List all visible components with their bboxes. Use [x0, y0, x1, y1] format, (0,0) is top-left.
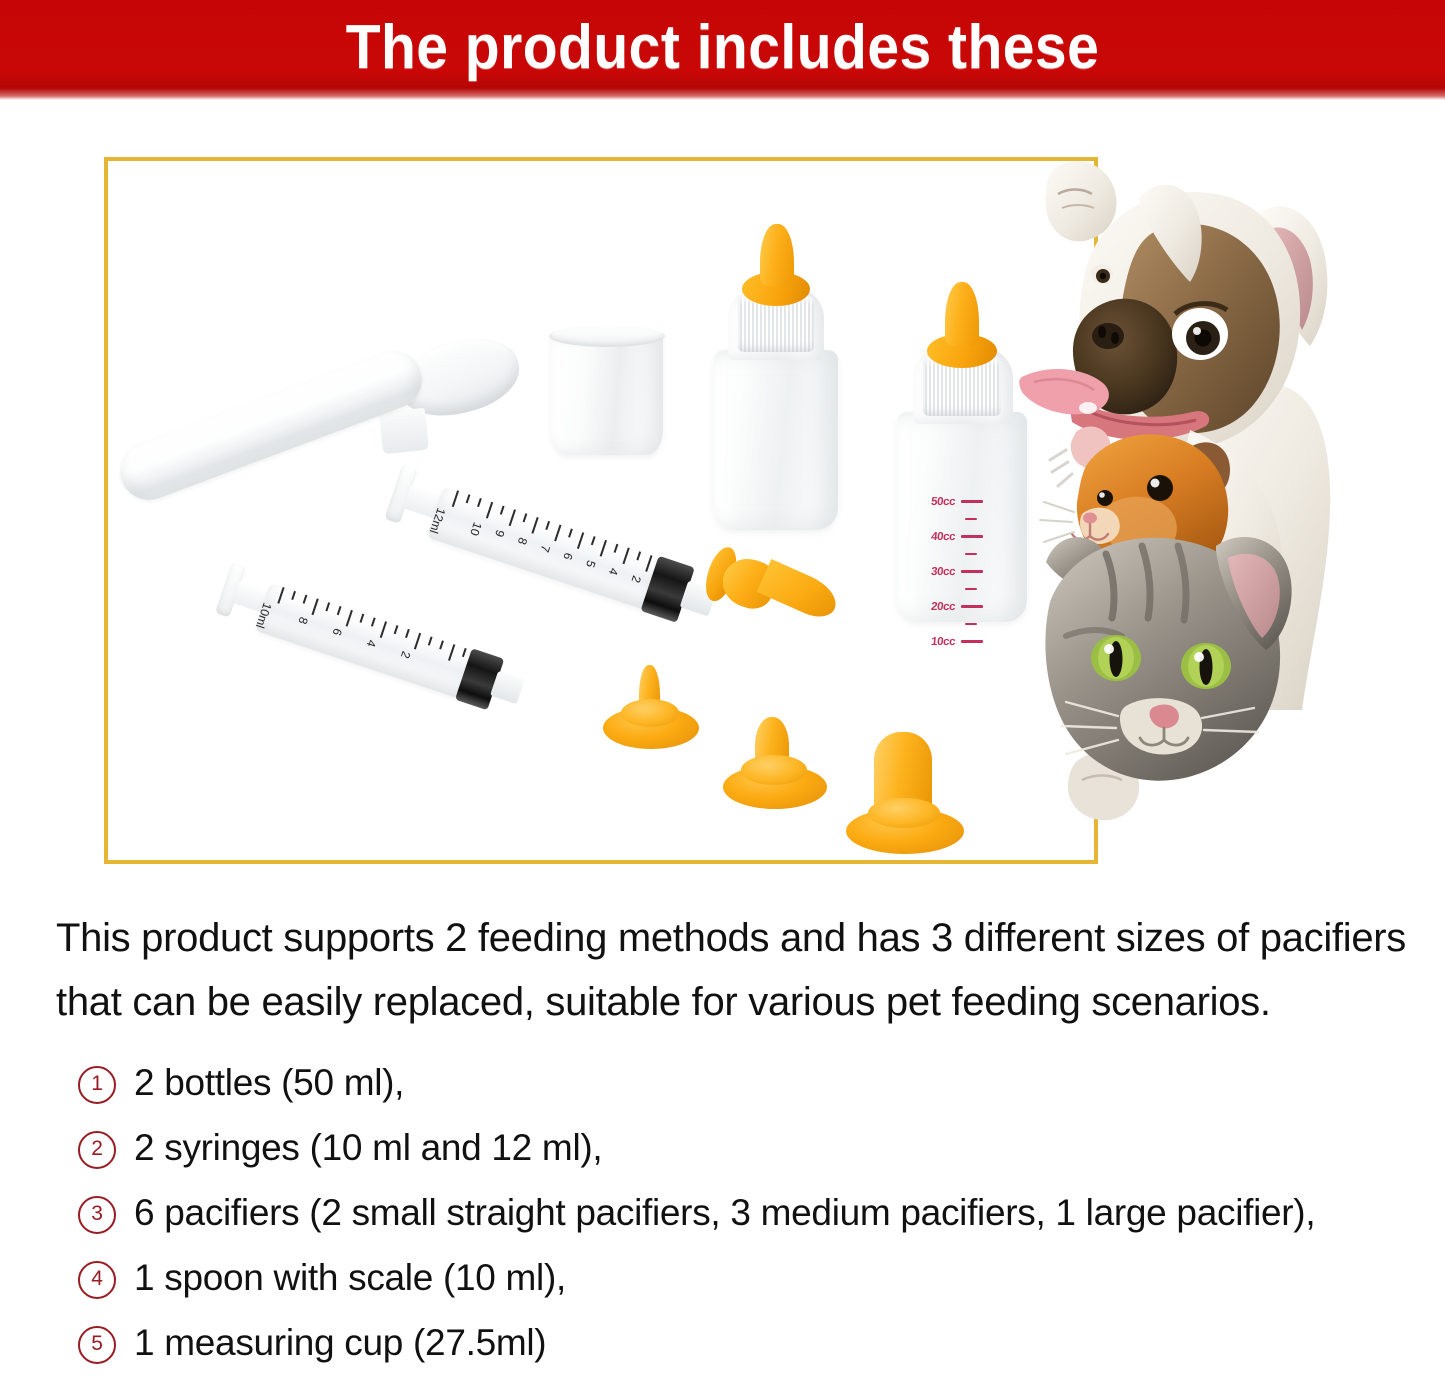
- measuring-cup: [551, 325, 663, 455]
- list-marker: 1: [78, 1066, 116, 1104]
- scale-row: 10cc: [911, 630, 1023, 653]
- list-marker: 2: [78, 1131, 116, 1169]
- scale-label: 40cc: [910, 531, 955, 543]
- pacifier-ring: [741, 755, 807, 785]
- list-item-label: 2 bottles (50 ml),: [134, 1062, 1418, 1104]
- syringe-number: 6: [330, 627, 345, 638]
- pacifier-medium: [723, 715, 827, 811]
- syringe-capacity-label: 12ml: [427, 506, 449, 535]
- scale-row-minor: [911, 618, 1023, 630]
- measuring-cup-rim: [549, 325, 665, 347]
- scale-row: 50cc: [911, 490, 1023, 513]
- syringe-number: 8: [515, 536, 530, 547]
- list-item-label: 1 spoon with scale (10 ml),: [134, 1257, 1418, 1299]
- scale-row-minor: [911, 583, 1023, 595]
- syringe-number: 5: [583, 559, 598, 570]
- scale-tick: [961, 500, 983, 503]
- scale-row: 40cc: [911, 525, 1023, 548]
- scale-tick: [961, 605, 983, 608]
- spoon-notch: [379, 408, 429, 455]
- tabby-kitten: [1045, 537, 1291, 820]
- animal-photo-group: [1010, 150, 1400, 830]
- syringe-number: 8: [295, 615, 310, 626]
- list-item-label: 1 measuring cup (27.5ml): [134, 1322, 1418, 1364]
- syringe-number: 7: [538, 543, 553, 554]
- list-item: 2 2 syringes (10 ml and 12 ml),: [78, 1127, 1418, 1192]
- list-item: 5 1 measuring cup (27.5ml): [78, 1322, 1418, 1387]
- pacifier-small: [603, 663, 699, 753]
- scale-label: 30cc: [910, 566, 955, 578]
- scale-tick: [965, 623, 977, 626]
- feature-list: 1 2 bottles (50 ml), 2 2 syringes (10 ml…: [78, 1062, 1418, 1387]
- scale-row-minor: [911, 548, 1023, 560]
- scale-tick: [961, 640, 983, 643]
- list-item: 1 2 bottles (50 ml),: [78, 1062, 1418, 1127]
- list-marker: 5: [78, 1326, 116, 1364]
- scale-tick: [961, 570, 983, 573]
- syringe-number: 9: [492, 528, 507, 539]
- syringe-number: 2: [398, 649, 413, 660]
- pacifier-ring: [621, 699, 679, 727]
- syringe-number: 4: [364, 638, 379, 649]
- scale-row-minor: [911, 513, 1023, 525]
- list-item: 4 1 spoon with scale (10 ml),: [78, 1257, 1418, 1322]
- bottle-nipple-tip: [760, 224, 794, 286]
- scale-label: 20cc: [910, 601, 955, 613]
- description-line-1: This product supports 2 feeding methods …: [56, 906, 1406, 970]
- scale-row: 30cc: [911, 560, 1023, 583]
- description-line-2: that can be easily replaced, suitable fo…: [56, 970, 1406, 1034]
- list-item: 3 6 pacifiers (2 small straight pacifier…: [78, 1192, 1418, 1257]
- page-title: The product includes these: [58, 0, 1387, 96]
- pacifier-large: [846, 730, 964, 854]
- syringe-number: 10: [467, 520, 485, 537]
- syringe-capacity-label: 10ml: [253, 601, 275, 630]
- list-item-label: 6 pacifiers (2 small straight pacifiers,…: [134, 1192, 1418, 1234]
- syringe-nozzle-pacifier: [693, 532, 844, 658]
- bottle-scale: 50cc 40cc 30cc: [911, 490, 1023, 653]
- list-marker: 4: [78, 1261, 116, 1299]
- scale-tick: [965, 588, 977, 591]
- syringe-number: 2: [629, 574, 644, 585]
- syringe-number: 4: [606, 566, 621, 577]
- syringe-number: 6: [560, 551, 575, 562]
- scale-row: 20cc: [911, 595, 1023, 618]
- bottle-plain: [708, 210, 848, 530]
- pacifier-ring: [868, 798, 940, 828]
- scale-tick: [965, 553, 977, 556]
- scale-tick: [961, 535, 983, 538]
- list-marker: 3: [78, 1196, 116, 1234]
- scale-tick: [965, 518, 977, 521]
- header-banner: The product includes these: [0, 0, 1445, 100]
- bottle-body: [714, 350, 838, 530]
- description-paragraph: This product supports 2 feeding methods …: [56, 906, 1406, 1034]
- list-item-label: 2 syringes (10 ml and 12 ml),: [134, 1127, 1418, 1169]
- measuring-cup-body: [551, 331, 663, 455]
- nozzle-curved-tip: [757, 559, 843, 624]
- bottle-nipple-tip: [945, 282, 979, 346]
- scale-label: 50cc: [910, 496, 955, 508]
- scale-label: 10cc: [910, 636, 955, 648]
